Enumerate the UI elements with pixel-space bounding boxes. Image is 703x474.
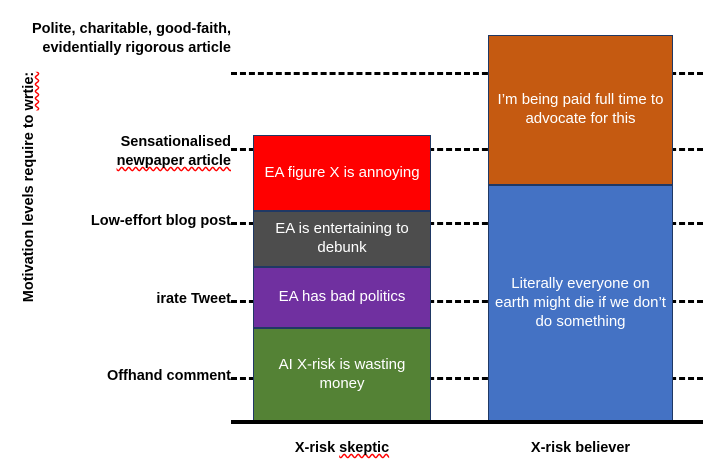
x-axis-label-x-risk-believer: X-risk believer xyxy=(488,440,673,456)
y-tick-line-1: irate Tweet xyxy=(0,290,231,309)
y-tick-line-1: Offhand comment xyxy=(0,367,231,386)
x-axis-label-typo: skeptic xyxy=(339,440,389,456)
x-axis-line xyxy=(231,420,703,424)
x-axis-label-x-risk-skeptic: X-risk skeptic xyxy=(253,440,431,456)
y-tick-label-low-effort-blog-post: Low-effort blog post xyxy=(0,212,231,231)
bar-segment-literally-everyone-might-die[interactable]: Literally everyone on earth might die if… xyxy=(488,185,673,422)
y-tick-line-2: evidentially rigorous article xyxy=(0,39,231,58)
y-tick-label-irate-tweet: irate Tweet xyxy=(0,290,231,309)
x-axis-label-prefix: X-risk xyxy=(295,440,339,456)
y-tick-label-offhand-comment: Offhand comment xyxy=(0,367,231,386)
y-tick-line-1: Sensationalised xyxy=(0,133,231,152)
bar-segment-ea-entertaining-debunk[interactable]: EA is entertaining to debunk xyxy=(253,211,431,267)
bar-segment-ea-figure-annoying[interactable]: EA figure X is annoying xyxy=(253,135,431,211)
y-tick-line-1: Low-effort blog post xyxy=(0,212,231,231)
bar-segment-ea-bad-politics[interactable]: EA has bad politics xyxy=(253,267,431,328)
y-tick-label-polite-article: Polite, charitable, good-faith, evidenti… xyxy=(0,20,231,58)
bar-segment-paid-full-time-advocate[interactable]: I’m being paid full time to advocate for… xyxy=(488,35,673,185)
y-tick-line-1: Polite, charitable, good-faith, xyxy=(0,20,231,39)
bar-stack-x-risk-skeptic: EA figure X is annoying EA is entertaini… xyxy=(253,135,431,422)
y-tick-line-2: newpaper article xyxy=(0,152,231,171)
y-axis-title-typo: wrtie: xyxy=(21,72,37,111)
y-tick-label-sensationalised-article: Sensationalised newpaper article xyxy=(0,133,231,171)
bar-segment-ai-xrisk-wasting-money[interactable]: AI X-risk is wasting money xyxy=(253,328,431,422)
bar-stack-x-risk-believer: I’m being paid full time to advocate for… xyxy=(488,35,673,422)
x-axis-label-prefix: X-risk believer xyxy=(531,440,630,456)
stacked-bar-chart: Motivation levels require to wrtie: Poli… xyxy=(0,0,703,474)
